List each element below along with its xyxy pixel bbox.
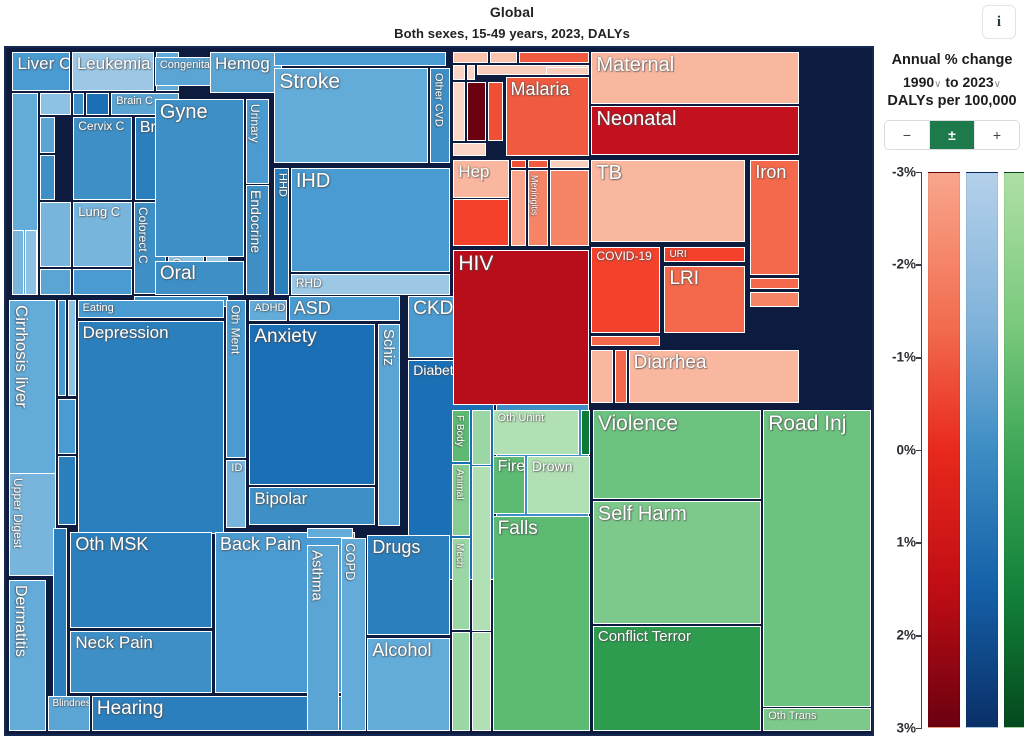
scale-tick-mark bbox=[916, 542, 922, 544]
treemap-cell-label: Blindness bbox=[53, 698, 91, 709]
treemap-cell[interactable] bbox=[591, 350, 612, 404]
treemap-page: Global Both sexes, 15-49 years, 2023, DA… bbox=[0, 0, 1024, 740]
treemap-cell-gyne[interactable]: Gyne bbox=[155, 99, 244, 257]
page-subtitle: Both sexes, 15-49 years, 2023, DALYs bbox=[0, 26, 1024, 42]
treemap-cell[interactable] bbox=[453, 82, 464, 140]
treemap-cell-label: Stroke bbox=[279, 70, 340, 94]
treemap-cell-drugs[interactable]: Drugs bbox=[367, 535, 450, 634]
treemap-cell-schiz[interactable]: Schiz bbox=[378, 324, 399, 526]
treemap-cell-label: ADHD bbox=[254, 302, 285, 314]
treemap-chart[interactable]: Liver CLeukemiaBrain CCervix CBreast CLu… bbox=[4, 46, 874, 736]
treemap-cell[interactable] bbox=[86, 93, 109, 116]
treemap-cell-hhd[interactable]: HHD bbox=[274, 168, 288, 295]
treemap-cell-label: HHD bbox=[276, 173, 288, 197]
scale-tick-mark bbox=[916, 635, 922, 637]
treemap-cell[interactable] bbox=[73, 93, 84, 116]
treemap-cell[interactable] bbox=[490, 52, 517, 63]
treemap-cell-label: Anxiety bbox=[254, 326, 316, 348]
treemap-cell[interactable] bbox=[488, 82, 504, 140]
treemap-cell-label: ASD bbox=[294, 298, 331, 319]
treemap-cell-label: Diarrhea bbox=[634, 352, 707, 374]
treemap-cell[interactable] bbox=[40, 93, 71, 116]
treemap-cell-self-harm[interactable]: Self Harm bbox=[593, 501, 761, 624]
treemap-cell-dermatitis[interactable]: Dermatitis bbox=[9, 580, 46, 731]
treemap-cell-label: Self Harm bbox=[598, 503, 687, 526]
treemap-cell[interactable] bbox=[546, 67, 589, 75]
treemap-cell-label: Oth MSK bbox=[75, 534, 148, 555]
legend-year-range: 1990∨ to 2023∨ bbox=[880, 74, 1024, 90]
treemap-cell-anxiety[interactable]: Anxiety bbox=[249, 324, 374, 485]
page-header: Global Both sexes, 15-49 years, 2023, DA… bbox=[0, 0, 1024, 46]
treemap-cell-label: Endocrine bbox=[248, 190, 264, 253]
scale-tick-mark bbox=[916, 172, 922, 174]
treemap-cell[interactable] bbox=[750, 292, 799, 307]
treemap-cell-eating[interactable]: Eating bbox=[78, 300, 225, 318]
scale-tick-mark bbox=[916, 264, 922, 266]
treemap-cell-label: URI bbox=[669, 249, 686, 260]
treemap-cell-label: Malaria bbox=[511, 79, 570, 100]
treemap-cell-blindness[interactable]: Blindness bbox=[48, 696, 91, 730]
treemap-cell-label: Mech bbox=[454, 543, 465, 567]
treemap-cell-neonatal[interactable]: Neonatal bbox=[591, 106, 799, 155]
treemap-cell-hep[interactable]: Hep bbox=[453, 160, 509, 198]
scale-tick-label: 2% bbox=[880, 628, 916, 643]
treemap-cell-upper-digest[interactable]: Upper Digest bbox=[9, 473, 56, 576]
treemap-cell-road-inj[interactable]: Road Inj bbox=[763, 410, 870, 706]
legend-panel: Annual % change 1990∨ to 2023∨ DALYs per… bbox=[880, 50, 1024, 740]
treemap-cell[interactable] bbox=[58, 300, 67, 396]
treemap-cell[interactable] bbox=[12, 230, 23, 295]
treemap-cell[interactable] bbox=[519, 52, 589, 63]
treemap-cell[interactable] bbox=[550, 170, 589, 245]
treemap-cell-hiv[interactable]: HIV bbox=[453, 250, 588, 405]
treemap-cell[interactable] bbox=[25, 230, 37, 295]
treemap-cell-violence[interactable]: Violence bbox=[593, 410, 761, 499]
treemap-cell-ihd[interactable]: IHD bbox=[291, 168, 451, 272]
sign-toggle-both[interactable]: ± bbox=[930, 121, 975, 149]
treemap-cell-bipolar[interactable]: Bipolar bbox=[249, 487, 374, 525]
sign-toggle-positive[interactable]: + bbox=[975, 121, 1019, 149]
treemap-cell-mech[interactable]: Mech bbox=[452, 538, 470, 631]
treemap-cell-label: COPD bbox=[343, 543, 358, 581]
scale-tick-label: -1% bbox=[880, 350, 916, 365]
page-title: Global bbox=[0, 4, 1024, 22]
treemap-cell-label: Leukemia bbox=[77, 54, 151, 74]
treemap-cell-f-body[interactable]: F Body bbox=[452, 410, 470, 461]
treemap-cell-label: COVID-19 bbox=[596, 249, 651, 263]
treemap-cell-label: TB bbox=[596, 162, 622, 185]
treemap-cell-label: Congenital bbox=[160, 59, 213, 71]
treemap-cell[interactable] bbox=[40, 202, 71, 267]
scale-tick-mark bbox=[916, 357, 922, 359]
chevron-down-icon-to[interactable]: ∨ bbox=[994, 79, 1001, 90]
treemap-cell[interactable] bbox=[472, 410, 491, 465]
treemap-cell[interactable] bbox=[453, 52, 487, 63]
treemap-cell-oral[interactable]: Oral bbox=[155, 261, 244, 295]
treemap-cell[interactable] bbox=[58, 399, 77, 454]
treemap-cell-endocrine[interactable]: Endocrine bbox=[246, 185, 269, 295]
treemap-cell-label: Animal bbox=[454, 469, 465, 500]
treemap-cell[interactable] bbox=[550, 160, 589, 168]
treemap-cell-label: Bipolar bbox=[254, 489, 307, 509]
legend-metric: DALYs per 100,000 bbox=[880, 93, 1024, 109]
gradient-bar-ncd[interactable] bbox=[966, 172, 998, 728]
treemap-cell-label: Meningitis bbox=[530, 175, 540, 216]
treemap-cell-falls[interactable]: Falls bbox=[493, 516, 590, 731]
treemap-cell-malaria[interactable]: Malaria bbox=[506, 77, 590, 156]
treemap-cell[interactable] bbox=[58, 456, 77, 525]
treemap-cell[interactable] bbox=[581, 410, 590, 455]
treemap-cell-label: Gyne bbox=[160, 101, 208, 124]
treemap-cell-label: Conflict Terror bbox=[598, 628, 691, 645]
treemap-cell-label: Lung C bbox=[78, 204, 120, 219]
treemap-cell-label: Urinary bbox=[248, 104, 262, 143]
treemap-cell-depression[interactable]: Depression bbox=[78, 321, 225, 534]
treemap-cell[interactable] bbox=[467, 65, 475, 80]
treemap-cell-oth-unint[interactable]: Oth Unint bbox=[493, 410, 579, 455]
scale-tick-label: 1% bbox=[880, 535, 916, 550]
treemap-cell-label: Dermatitis bbox=[11, 585, 29, 657]
treemap-cell[interactable] bbox=[467, 82, 486, 140]
treemap-cell-label: Back Pain bbox=[220, 534, 301, 555]
sign-toggle-negative[interactable]: − bbox=[885, 121, 930, 149]
treemap-cell-label: Eating bbox=[83, 302, 114, 314]
treemap-cell[interactable] bbox=[511, 170, 525, 245]
treemap-cell-label: Hemog bbox=[215, 54, 270, 74]
treemap-cell-label: Asthma bbox=[309, 550, 326, 601]
treemap-cell-stroke[interactable]: Stroke bbox=[274, 68, 428, 163]
treemap-cell[interactable] bbox=[40, 117, 54, 153]
treemap-cell-label: Cirrhosis liver bbox=[11, 305, 31, 408]
treemap-cell-label: HIV bbox=[458, 252, 493, 276]
treemap-cell[interactable] bbox=[511, 160, 525, 168]
treemap-cell-oth-ment[interactable]: Oth Ment bbox=[226, 300, 246, 458]
treemap-cell[interactable] bbox=[68, 300, 77, 396]
treemap-cell-conflict-terror[interactable]: Conflict Terror bbox=[593, 626, 761, 731]
treemap-cell-oth-msk[interactable]: Oth MSK bbox=[70, 532, 212, 628]
treemap-cell-fire[interactable]: Fire bbox=[493, 456, 525, 514]
title-block: Global Both sexes, 15-49 years, 2023, DA… bbox=[0, 4, 1024, 42]
treemap-cell-label: Brain C bbox=[116, 95, 153, 107]
treemap-cell-label: Oth Unint bbox=[498, 412, 544, 424]
info-icon[interactable]: i bbox=[982, 5, 1016, 39]
treemap-cell-alcohol[interactable]: Alcohol bbox=[367, 638, 450, 731]
treemap-cell-label: Upper Digest bbox=[11, 478, 25, 548]
treemap-cell-label: Neck Pain bbox=[75, 633, 152, 653]
treemap-cell-adhd[interactable]: ADHD bbox=[249, 300, 286, 321]
treemap-cell-label: Hep bbox=[458, 162, 489, 182]
treemap-cell-label: Iron bbox=[755, 162, 786, 183]
treemap-cell-covid-19[interactable]: COVID-19 bbox=[591, 247, 660, 333]
treemap-cell-label: LRI bbox=[669, 268, 699, 290]
treemap-cell-animal[interactable]: Animal bbox=[452, 464, 470, 536]
treemap-cell-label: Drown bbox=[532, 458, 572, 474]
treemap-cell[interactable] bbox=[40, 269, 71, 295]
treemap-cell-leukemia[interactable]: Leukemia bbox=[72, 52, 154, 90]
treemap-cell[interactable] bbox=[452, 632, 470, 730]
treemap-cell-label: Oth Trans bbox=[768, 710, 816, 722]
treemap-cell-neck-pain[interactable]: Neck Pain bbox=[70, 631, 212, 693]
treemap-cell-meningitis[interactable]: Meningitis bbox=[528, 170, 548, 245]
treemap-cell-label: Road Inj bbox=[768, 412, 846, 436]
treemap-cell-copd[interactable]: COPD bbox=[341, 538, 366, 730]
treemap-cell-label: Other CVD bbox=[432, 73, 444, 127]
treemap-cell-tb[interactable]: TB bbox=[591, 160, 745, 242]
legend-title: Annual % change bbox=[880, 50, 1024, 72]
color-scale: -3%-2%-1%0%1%2%3% bbox=[880, 162, 1024, 732]
treemap-cell-iron[interactable]: Iron bbox=[750, 160, 799, 275]
treemap-cell-label: Oth Ment bbox=[228, 305, 242, 354]
treemap-cell-label: Oral bbox=[160, 263, 196, 285]
treemap-cell-label: CKD bbox=[413, 298, 453, 320]
treemap-cell-urinary[interactable]: Urinary bbox=[246, 99, 269, 183]
treemap-cell[interactable] bbox=[528, 160, 548, 168]
scale-tick-mark bbox=[916, 450, 922, 452]
treemap-cell-asthma[interactable]: Asthma bbox=[307, 545, 339, 730]
treemap-cell-id[interactable]: ID bbox=[226, 460, 246, 529]
treemap-cell-label: Falls bbox=[498, 518, 538, 540]
sign-filter-toggle[interactable]: −±+ bbox=[884, 120, 1020, 150]
year-to-select[interactable]: 2023 bbox=[963, 74, 994, 90]
gradient-bar-injuries[interactable] bbox=[1004, 172, 1024, 728]
treemap-cell-hemog[interactable]: Hemog bbox=[210, 52, 282, 93]
treemap-cell-rhd[interactable]: RHD bbox=[291, 274, 451, 295]
treemap-cell-oth-trans[interactable]: Oth Trans bbox=[763, 708, 870, 731]
treemap-cell-label: Schiz bbox=[380, 329, 397, 366]
treemap-cell-label: Alcohol bbox=[372, 640, 431, 661]
treemap-cell[interactable] bbox=[750, 278, 799, 289]
chevron-down-icon-from[interactable]: ∨ bbox=[934, 79, 941, 90]
scale-tick-label: -3% bbox=[880, 164, 916, 179]
treemap-cell-diarrhea[interactable]: Diarrhea bbox=[629, 350, 799, 404]
treemap-cell-label: Neonatal bbox=[596, 108, 676, 131]
treemap-cell-label: F Body bbox=[454, 415, 465, 447]
treemap-cell[interactable] bbox=[73, 269, 132, 295]
treemap-cell[interactable] bbox=[307, 528, 354, 538]
treemap-cell-asd[interactable]: ASD bbox=[289, 296, 400, 321]
treemap-cell[interactable] bbox=[615, 350, 626, 404]
gradient-bar-communicable[interactable] bbox=[928, 172, 960, 728]
year-to-label: to bbox=[945, 74, 958, 90]
treemap-cell-label: Hearing bbox=[97, 698, 164, 720]
treemap-cell-label: Drugs bbox=[372, 537, 420, 558]
treemap-cell-cervix-c[interactable]: Cervix C bbox=[73, 117, 132, 199]
treemap-cell[interactable] bbox=[40, 155, 54, 200]
treemap-cell-label: Liver C bbox=[17, 54, 69, 74]
treemap-cell[interactable] bbox=[472, 466, 491, 631]
treemap-cell-label: ID bbox=[231, 462, 242, 474]
treemap-cell[interactable] bbox=[274, 52, 446, 66]
treemap-cell-label: Fire bbox=[498, 458, 525, 476]
treemap-cell-label: IHD bbox=[296, 170, 330, 193]
treemap-cell[interactable] bbox=[453, 65, 464, 80]
year-from-select[interactable]: 1990 bbox=[903, 74, 934, 90]
treemap-cell-uri[interactable]: URI bbox=[664, 247, 745, 262]
treemap-cell-other-cvd[interactable]: Other CVD bbox=[430, 68, 450, 163]
treemap-cell-lung-c[interactable]: Lung C bbox=[73, 202, 132, 267]
treemap-cell-label: Colorect C bbox=[136, 207, 150, 264]
treemap-cell-label: Cervix C bbox=[78, 119, 124, 133]
treemap-cell[interactable] bbox=[472, 632, 491, 730]
treemap-cell-label: Depression bbox=[83, 323, 169, 343]
treemap-cell-label: Violence bbox=[598, 412, 678, 436]
treemap-cell-label: Maternal bbox=[596, 54, 674, 77]
treemap-cell-label: RHD bbox=[296, 276, 322, 290]
treemap-cell-drown[interactable]: Drown bbox=[527, 456, 590, 514]
treemap-cell[interactable] bbox=[453, 199, 509, 246]
treemap-cell[interactable] bbox=[453, 143, 485, 157]
scale-tick-mark bbox=[916, 728, 922, 730]
treemap-cell-lri[interactable]: LRI bbox=[664, 266, 745, 333]
scale-tick-label: 3% bbox=[880, 720, 916, 735]
treemap-cell-liver-c[interactable]: Liver C bbox=[12, 52, 69, 90]
scale-tick-label: -2% bbox=[880, 257, 916, 272]
treemap-cell-maternal[interactable]: Maternal bbox=[591, 52, 799, 103]
scale-tick-label: 0% bbox=[880, 442, 916, 457]
treemap-cell[interactable] bbox=[591, 336, 660, 346]
